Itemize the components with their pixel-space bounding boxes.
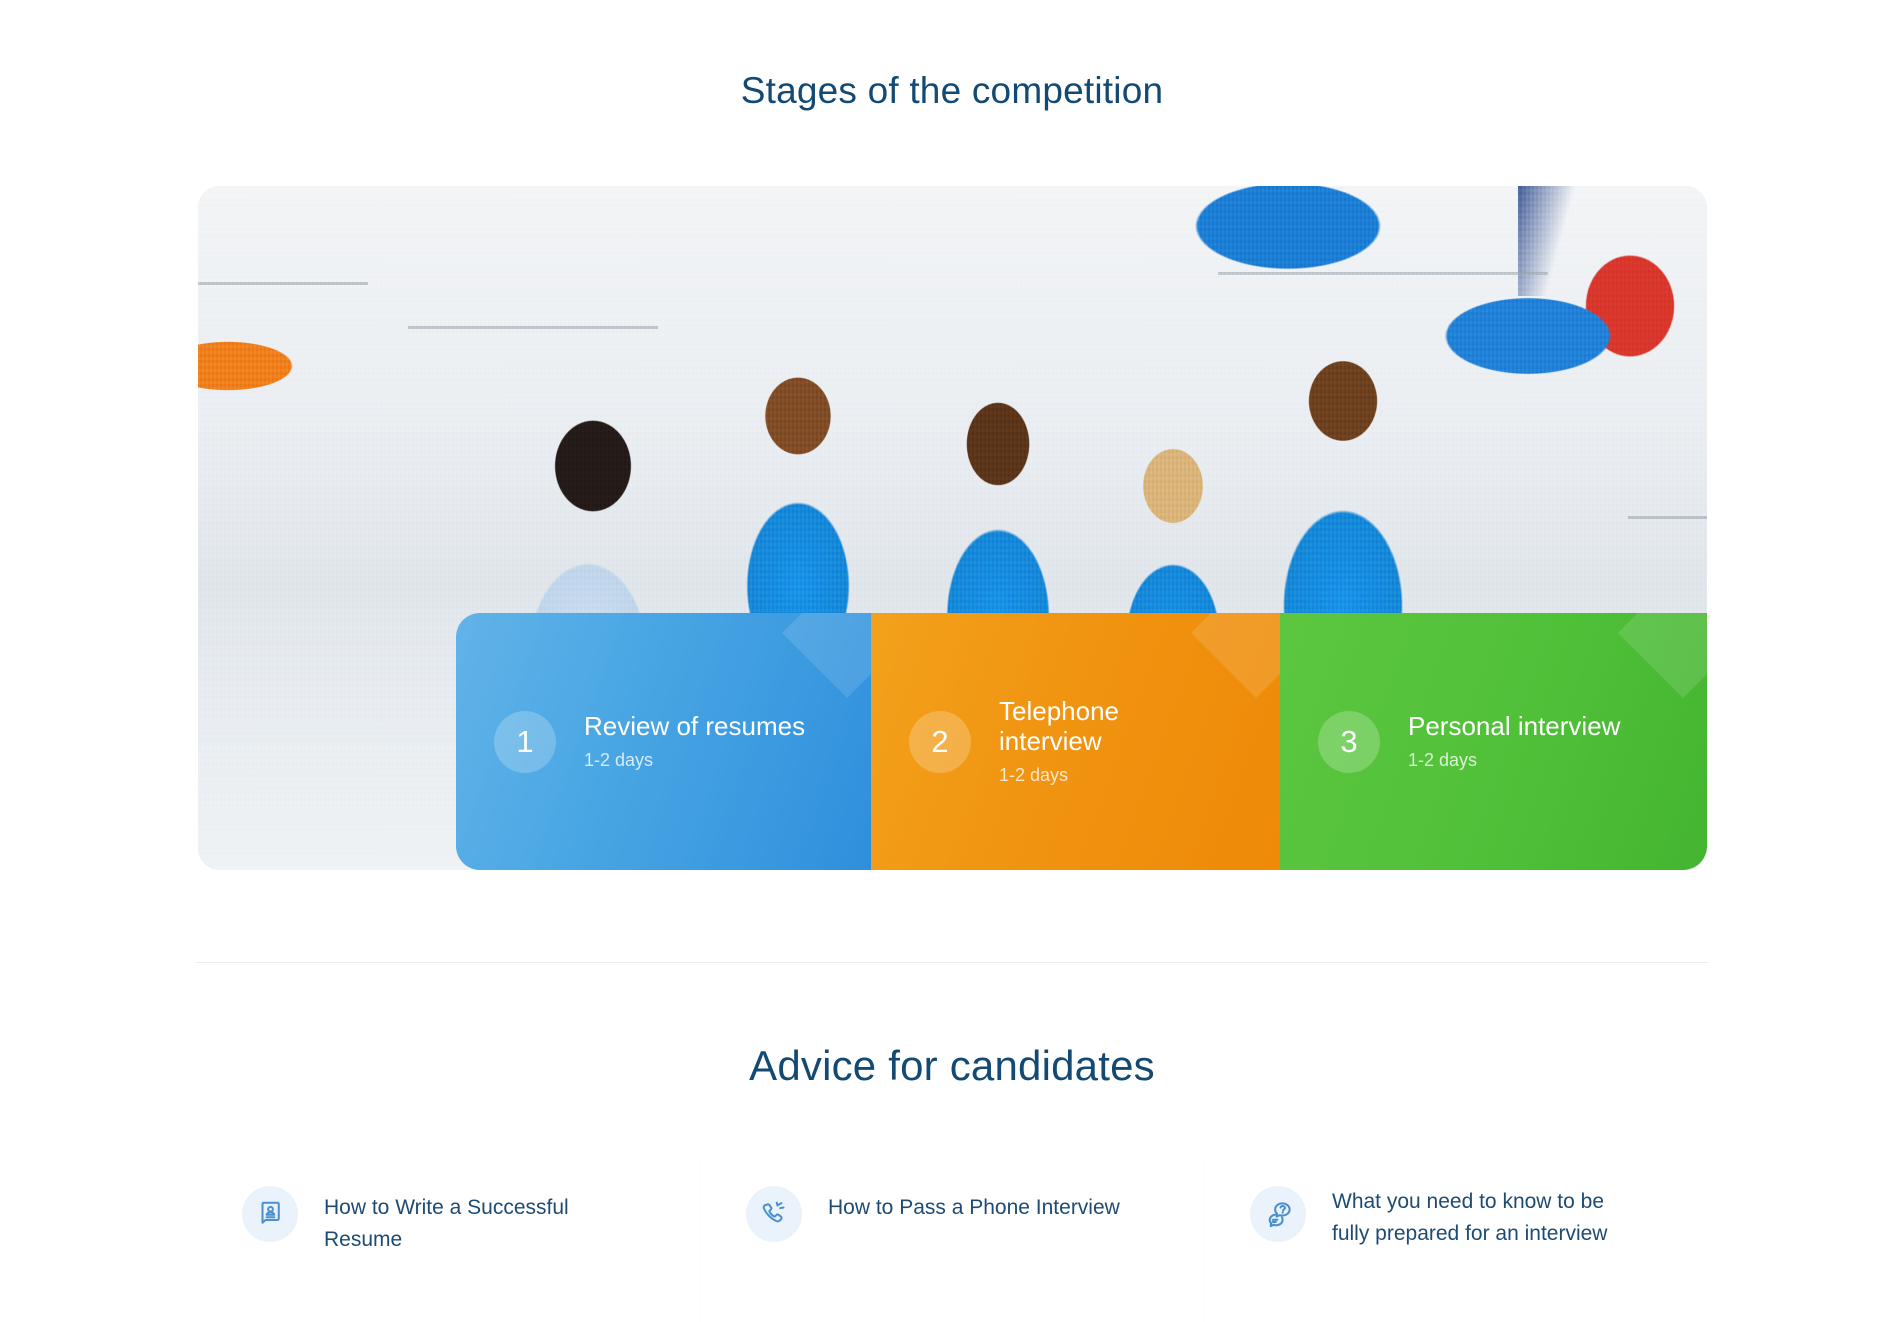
- advice-card-label: How to Write a Successful Resume: [324, 1192, 624, 1256]
- step-name: Personal interview: [1408, 712, 1620, 742]
- stages-steps-strip: 1 Review of resumes 1-2 days 2 Telephone…: [456, 613, 1707, 870]
- question-chat-icon: [1250, 1186, 1306, 1242]
- step-name: Telephone interview: [999, 697, 1189, 756]
- step-card-text: Review of resumes 1-2 days: [584, 712, 805, 772]
- step-card-text: Personal interview 1-2 days: [1408, 712, 1620, 772]
- step-number-badge: 2: [909, 711, 971, 773]
- page-root: Stages of the competition 1 Review of re…: [0, 0, 1904, 1322]
- step-card-1[interactable]: 1 Review of resumes 1-2 days: [456, 613, 871, 870]
- stages-photo-block: 1 Review of resumes 1-2 days 2 Telephone…: [198, 186, 1707, 870]
- step-duration: 1-2 days: [999, 765, 1189, 786]
- advice-card-label: What you need to know to be fully prepar…: [1332, 1186, 1622, 1250]
- step-number-badge: 1: [494, 711, 556, 773]
- advice-card-label: How to Pass a Phone Interview: [828, 1192, 1120, 1224]
- ringing-phone-icon: [746, 1186, 802, 1242]
- stages-section-title: Stages of the competition: [0, 70, 1904, 112]
- step-duration: 1-2 days: [1408, 750, 1620, 771]
- advice-section-title: Advice for candidates: [0, 1042, 1904, 1090]
- step-name: Review of resumes: [584, 712, 805, 742]
- advice-card-resume[interactable]: How to Write a Successful Resume: [196, 1156, 700, 1322]
- step-duration: 1-2 days: [584, 750, 805, 771]
- step-card-2[interactable]: 2 Telephone interview 1-2 days: [871, 613, 1280, 870]
- advice-card-row: How to Write a Successful Resume How to …: [196, 1156, 1708, 1322]
- step-card-text: Telephone interview 1-2 days: [999, 697, 1189, 786]
- advice-card-interview-prep[interactable]: What you need to know to be fully prepar…: [1204, 1156, 1708, 1322]
- step-number-badge: 3: [1318, 711, 1380, 773]
- section-divider: [196, 962, 1708, 963]
- step-card-3[interactable]: 3 Personal interview 1-2 days: [1280, 613, 1707, 870]
- advice-card-phone-interview[interactable]: How to Pass a Phone Interview: [700, 1156, 1204, 1322]
- resume-document-icon: [242, 1186, 298, 1242]
